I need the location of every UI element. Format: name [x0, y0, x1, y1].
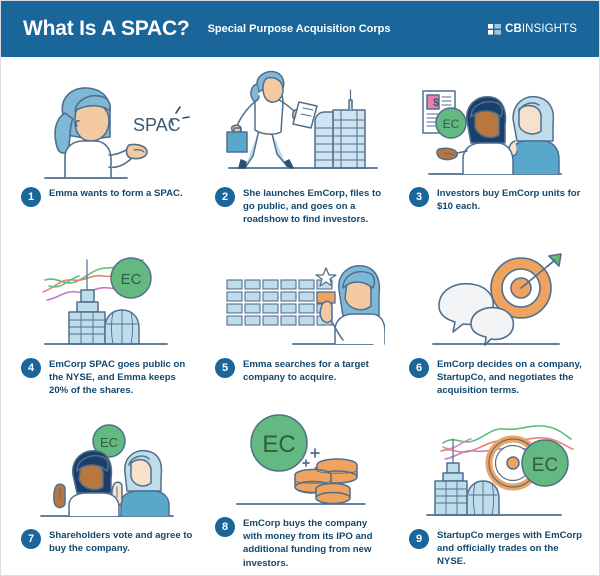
step-cell-2: 2 She launches EmCorp, files to go publi… — [203, 61, 397, 232]
step-cell-8: EC — [203, 403, 397, 574]
dollar-label: $ — [433, 97, 439, 109]
ec-label: EC — [532, 455, 558, 476]
step-cell-3: $ EC — [397, 61, 591, 232]
step-caption-7: 7 Shareholders vote and agree to buy the… — [17, 522, 195, 574]
step-text: Investors buy EmCorp units for $10 each. — [437, 186, 583, 213]
spac-label: SPAC — [133, 115, 181, 135]
shareholder-vote-illustration: EC — [17, 405, 195, 522]
steps-grid: SPAC 1 Emma wants to form a SPAC. — [1, 57, 599, 576]
investors-buy-units-illustration: $ EC — [405, 63, 583, 180]
step-text: StartupCo merges with EmCorp and officia… — [437, 528, 583, 569]
nyse-listing-illustration: EC — [17, 234, 195, 351]
step-text: Emma searches for a target company to ac… — [243, 357, 389, 384]
cbinsights-logo: CBINSIGHTS — [488, 23, 577, 35]
target-search-grid-illustration — [211, 234, 389, 351]
step-number-badge: 7 — [21, 529, 41, 549]
step-number-badge: 8 — [215, 517, 235, 537]
step-text: EmCorp SPAC goes public on the NYSE, and… — [49, 357, 195, 398]
ec-label: EC — [262, 431, 295, 458]
page-subtitle: Special Purpose Acquisition Corps — [208, 23, 391, 35]
step-number-badge: 6 — [409, 358, 429, 378]
step-caption-5: 5 Emma searches for a target company to … — [211, 351, 389, 403]
step-number-badge: 4 — [21, 358, 41, 378]
emcorp-buys-company-illustration: EC — [211, 405, 389, 510]
step-caption-9: 9 StartupCo merges with EmCorp and offic… — [405, 522, 583, 574]
step-caption-3: 3 Investors buy EmCorp units for $10 eac… — [405, 180, 583, 232]
emma-walking-roadshow-illustration — [211, 63, 389, 180]
step-caption-6: 6 EmCorp decides on a company, StartupCo… — [405, 351, 583, 403]
step-number-badge: 2 — [215, 187, 235, 207]
step-caption-1: 1 Emma wants to form a SPAC. — [17, 180, 195, 232]
header-bar: What Is A SPAC? Special Purpose Acquisit… — [1, 1, 599, 57]
logo-light-text: INSIGHTS — [522, 23, 577, 35]
infographic-poster: What Is A SPAC? Special Purpose Acquisit… — [0, 0, 600, 576]
emma-says-spac-illustration: SPAC — [17, 63, 195, 180]
step-text: Emma wants to form a SPAC. — [49, 186, 183, 200]
step-cell-4: EC 4 EmCorp SPAC goes public on the NYSE… — [9, 232, 203, 403]
step-caption-4: 4 EmCorp SPAC goes public on the NYSE, a… — [17, 351, 195, 403]
logo-bold-text: CB — [505, 23, 522, 35]
step-cell-7: EC — [9, 403, 203, 574]
step-number-badge: 5 — [215, 358, 235, 378]
step-cell-6: 6 EmCorp decides on a company, StartupCo… — [397, 232, 591, 403]
ec-label: EC — [100, 435, 118, 450]
step-number-badge: 9 — [409, 529, 429, 549]
merger-trades-nyse-illustration: EC — [405, 405, 583, 522]
ec-label: EC — [443, 117, 460, 131]
step-number-badge: 1 — [21, 187, 41, 207]
step-text: EmCorp decides on a company, StartupCo, … — [437, 357, 583, 398]
grid-icon — [488, 24, 501, 35]
step-text: Shareholders vote and agree to buy the c… — [49, 528, 195, 555]
step-text: She launches EmCorp, files to go public,… — [243, 186, 389, 227]
step-text: EmCorp buys the company with money from … — [243, 516, 389, 570]
step-caption-8: 8 EmCorp buys the company with money fro… — [211, 510, 389, 574]
ec-label: EC — [121, 271, 142, 288]
step-cell-1: SPAC 1 Emma wants to form a SPAC. — [9, 61, 203, 232]
step-cell-9: EC 9 StartupCo merges with EmCorp and of… — [397, 403, 591, 574]
negotiation-target-illustration — [405, 234, 583, 351]
logo-wordmark: CBINSIGHTS — [505, 23, 577, 35]
step-caption-2: 2 She launches EmCorp, files to go publi… — [211, 180, 389, 232]
step-number-badge: 3 — [409, 187, 429, 207]
page-title: What Is A SPAC? — [23, 17, 190, 41]
step-cell-5: 5 Emma searches for a target company to … — [203, 232, 397, 403]
